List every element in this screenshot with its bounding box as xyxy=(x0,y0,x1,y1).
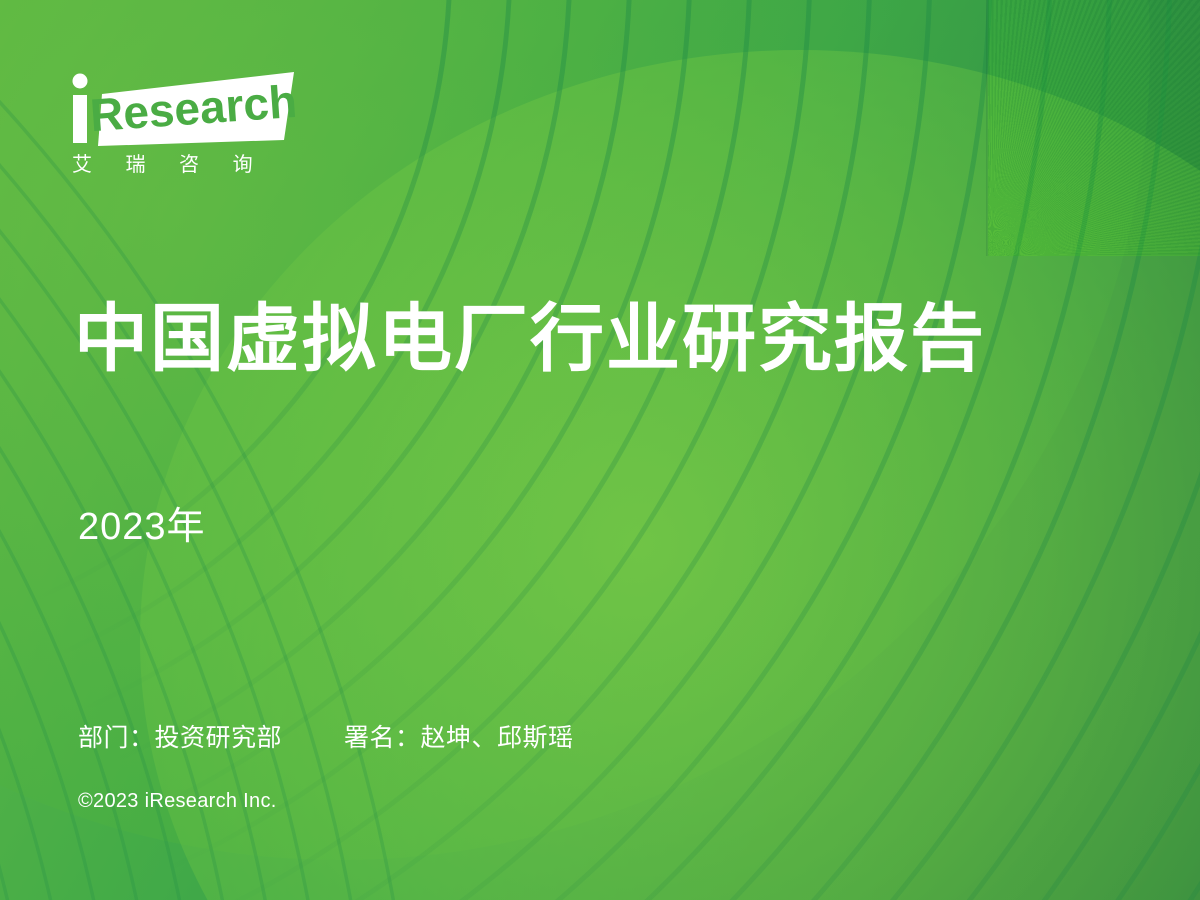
report-year: 2023年 xyxy=(78,495,206,550)
iresearch-logo: Research 艾 瑞 咨 询 xyxy=(68,68,328,180)
copyright-notice: ©2023 iResearch Inc. xyxy=(78,790,277,813)
report-title: 中国虚拟电厂行业研究报告 xyxy=(74,300,1174,378)
report-cover-page: Research 艾 瑞 咨 询 中国虚拟电厂行业研究报告 2023年 部门：投… xyxy=(0,0,1200,900)
logo-chinese-name: 艾 瑞 咨 询 xyxy=(72,148,267,177)
byline: 部门：投资研究部 署名：赵坤、邱斯瑶 xyxy=(78,718,574,754)
background-fan-tint xyxy=(988,0,1200,256)
background-panel-seam xyxy=(986,0,989,256)
department-label: 部门：投资研究部 xyxy=(78,718,282,754)
authors-label: 署名：赵坤、邱斯瑶 xyxy=(344,718,574,754)
